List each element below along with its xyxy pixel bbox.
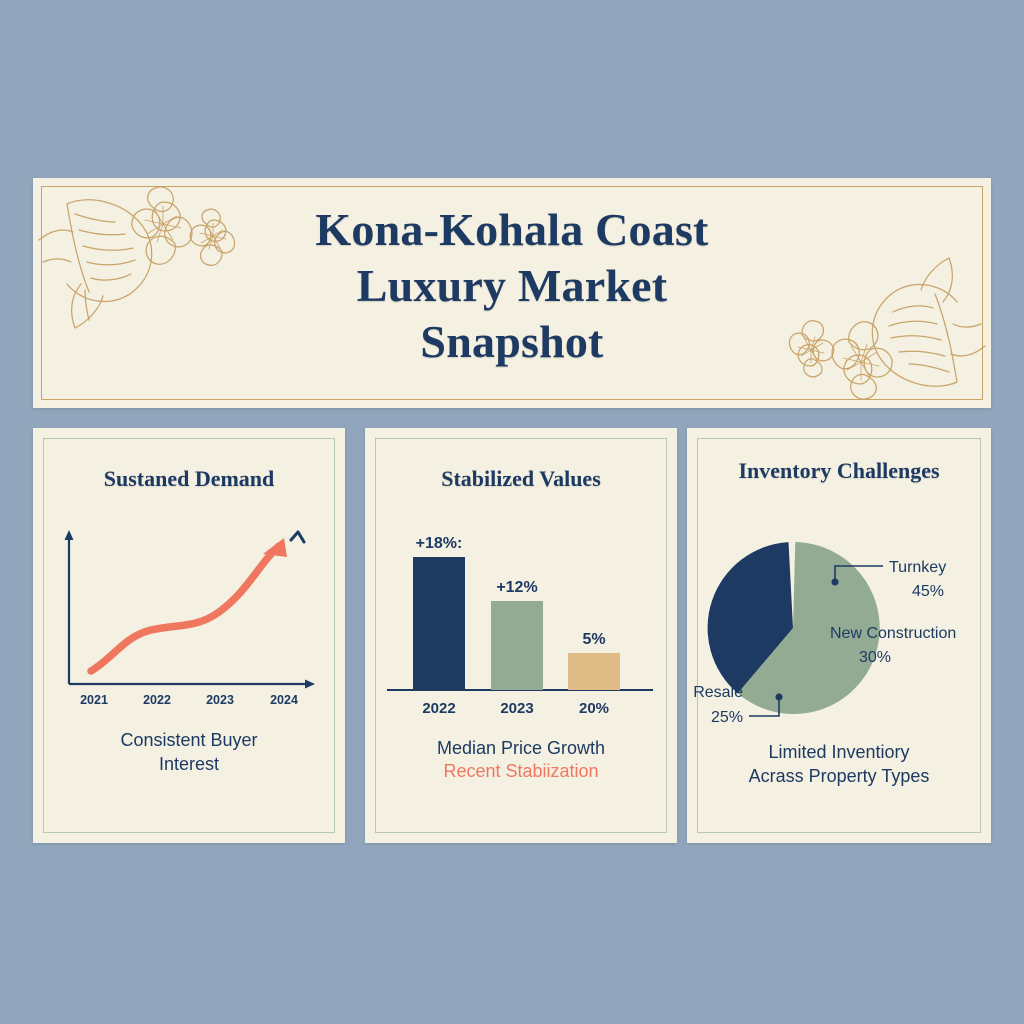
panel-sustained-demand: Sustaned Demand 2021 [33,428,345,843]
x-tick-2021: 2021 [80,693,108,707]
pie-value-new-construction: 30% [859,649,891,666]
x-tick-2024: 2024 [270,693,298,707]
caption-line-1: Limited Inventiory [693,740,985,764]
bar-tick-2: 2023 [500,700,533,717]
pie-value-resale: 25% [711,709,743,726]
bar-2023 [491,601,543,690]
y-axis-arrowhead [65,530,74,540]
title-line-1: Kona-Kohala Coast [33,202,991,258]
bar-2022 [413,557,465,690]
panel-title-stabilized-values: Stabilized Values [377,464,665,493]
pie-label-resale: Resale [693,684,743,701]
trend-line [91,546,279,671]
page-title: Kona-Kohala Coast Luxury Market Snapshot [33,202,991,370]
panel-row: Sustaned Demand 2021 [33,428,991,843]
bar-tick-1: 2022 [422,700,455,717]
caption-sustained-demand: Consistent Buyer Interest [39,728,339,776]
panel-stabilized-values: Stabilized Values +18%: +12% 5% 2022 202… [365,428,677,843]
pie-label-new-construction: New Construction [830,625,956,642]
title-line-2: Luxury Market [33,258,991,314]
x-axis-arrowhead [305,680,315,689]
x-tick-2022: 2022 [143,693,171,707]
trend-arrowhead [263,538,287,557]
x-tick-2023: 2023 [206,693,234,707]
pie-chart-inventory-challenges: Turnkey 45% New Construction 30% Resale … [687,534,991,734]
caret-mark-icon [291,532,304,542]
bar-value-label-2: +12% [496,579,537,596]
caption-line-2: Acrass Property Types [693,764,985,788]
caption-line-2: Interest [39,752,339,776]
panel-inventory-challenges: Inventory Challenges Turnkey 45% New [687,428,991,843]
pie-value-turnkey: 45% [912,583,944,600]
line-chart-sustained-demand: 2021 2022 2023 2024 [47,524,331,714]
caption-line-1: Consistent Buyer [39,728,339,752]
panel-title-sustained-demand: Sustaned Demand [45,464,333,493]
caption-median-price-growth: Median Price Growth [371,736,671,760]
pie-label-turnkey: Turnkey [889,559,946,576]
caption-recent-stabilization: Recent Stabiization [371,759,671,783]
panel-title-inventory-challenges: Inventory Challenges [699,456,979,485]
bar-value-label-1: +18%: [416,535,463,552]
bar-value-label-3: 5% [582,631,605,648]
title-banner: Kona-Kohala Coast Luxury Market Snapshot [33,178,991,408]
infographic-canvas: Kona-Kohala Coast Luxury Market Snapshot… [0,0,1024,1024]
title-line-3: Snapshot [33,314,991,370]
bar-chart-stabilized-values: +18%: +12% 5% 2022 2023 20% [381,524,661,724]
caption-inventory-challenges: Limited Inventiory Acrass Property Types [693,740,985,788]
panel-title-line-2: Challenges [837,458,940,483]
bar-tick-3: 20% [579,700,609,717]
panel-title-line-1: Inventory [738,458,831,483]
bar-3 [568,653,620,690]
